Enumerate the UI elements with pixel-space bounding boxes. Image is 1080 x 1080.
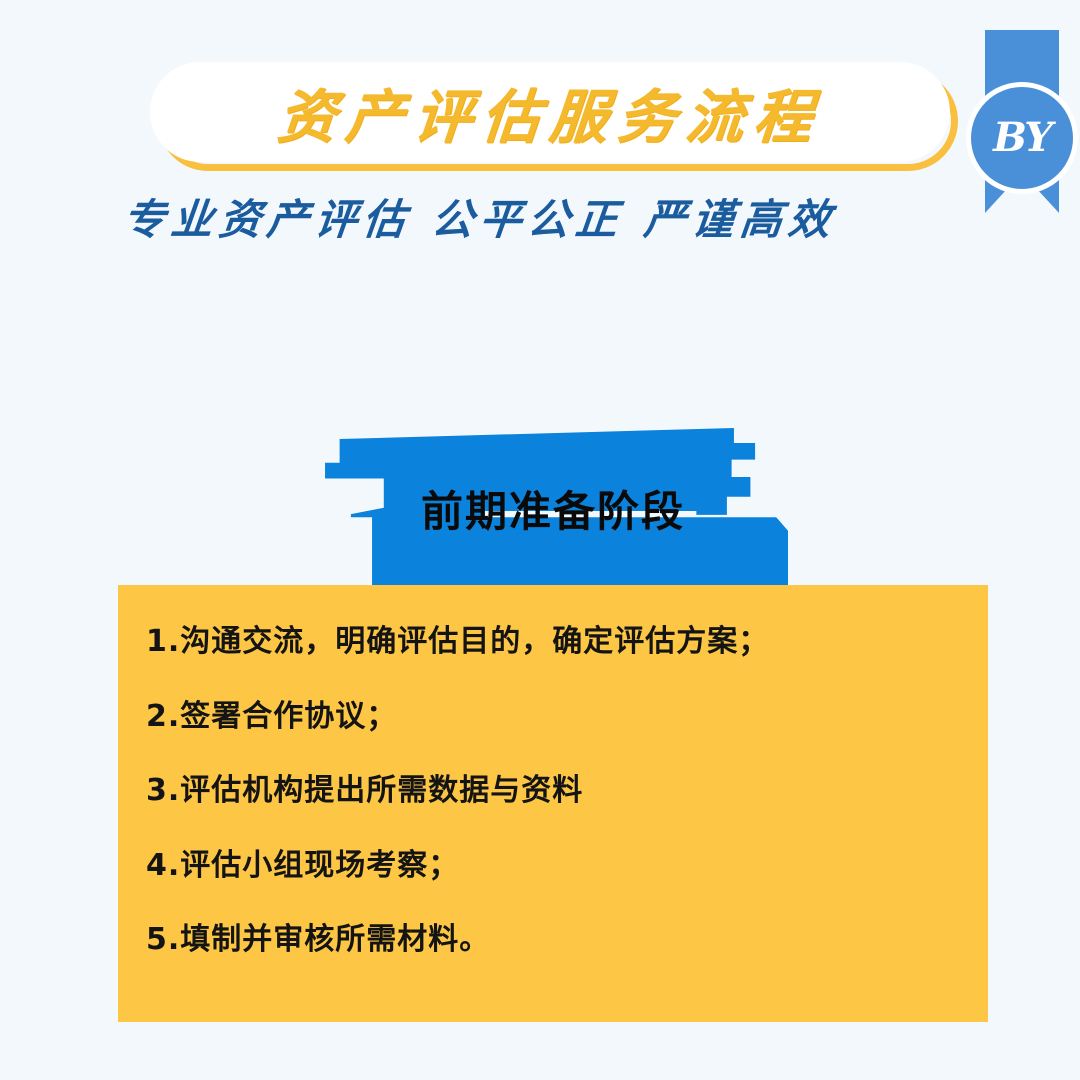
list-item: 3.评估机构提出所需数据与资料	[146, 774, 960, 809]
title-pill: 资产评估服务流程	[150, 62, 950, 162]
list-item: 1.沟通交流，明确评估目的，确定评估方案；	[146, 625, 960, 660]
stage-banner: 前期准备阶段	[318, 428, 788, 586]
ribbon-badge-icon: BY	[985, 30, 1059, 213]
poster-canvas: 资产评估服务流程 专业资产评估 公平公正 严谨高效 BY 前期准备阶段 1.沟通…	[0, 0, 1080, 1080]
list-item: 4.评估小组现场考察；	[146, 849, 960, 884]
list-item: 5.填制并审核所需材料。	[146, 923, 960, 958]
steps-card: 1.沟通交流，明确评估目的，确定评估方案； 2.签署合作协议； 3.评估机构提出…	[118, 585, 988, 1022]
page-subtitle: 专业资产评估 公平公正 严谨高效	[0, 186, 963, 247]
ribbon-seal-circle: BY	[966, 82, 1078, 194]
list-item: 2.签署合作协议；	[146, 700, 960, 735]
stage-title: 前期准备阶段	[318, 478, 788, 539]
title-banner: 资产评估服务流程	[150, 62, 950, 162]
brand-monogram: BY	[993, 118, 1051, 158]
page-title: 资产评估服务流程	[274, 70, 825, 154]
